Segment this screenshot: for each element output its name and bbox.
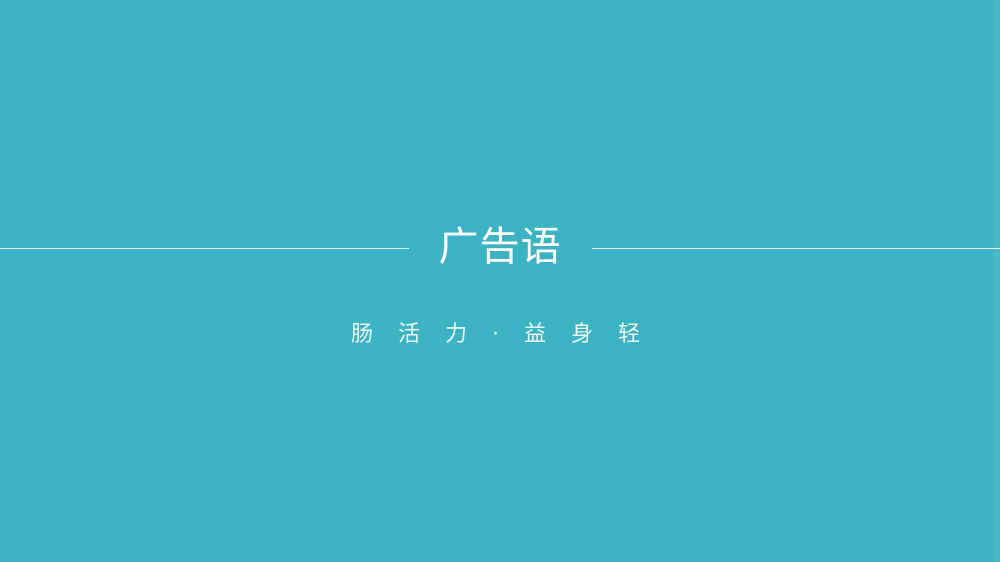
title-block: 广告语 [0, 216, 1000, 278]
right-edge-highlight [993, 0, 1000, 562]
divider-line-right [592, 248, 1000, 249]
slide-title: 广告语 [409, 227, 592, 267]
divider-line-left [0, 248, 409, 249]
slide-canvas: 广告语 肠 活 力 · 益 身 轻 [0, 0, 1000, 562]
slide-subtitle: 肠 活 力 · 益 身 轻 [0, 320, 1000, 351]
